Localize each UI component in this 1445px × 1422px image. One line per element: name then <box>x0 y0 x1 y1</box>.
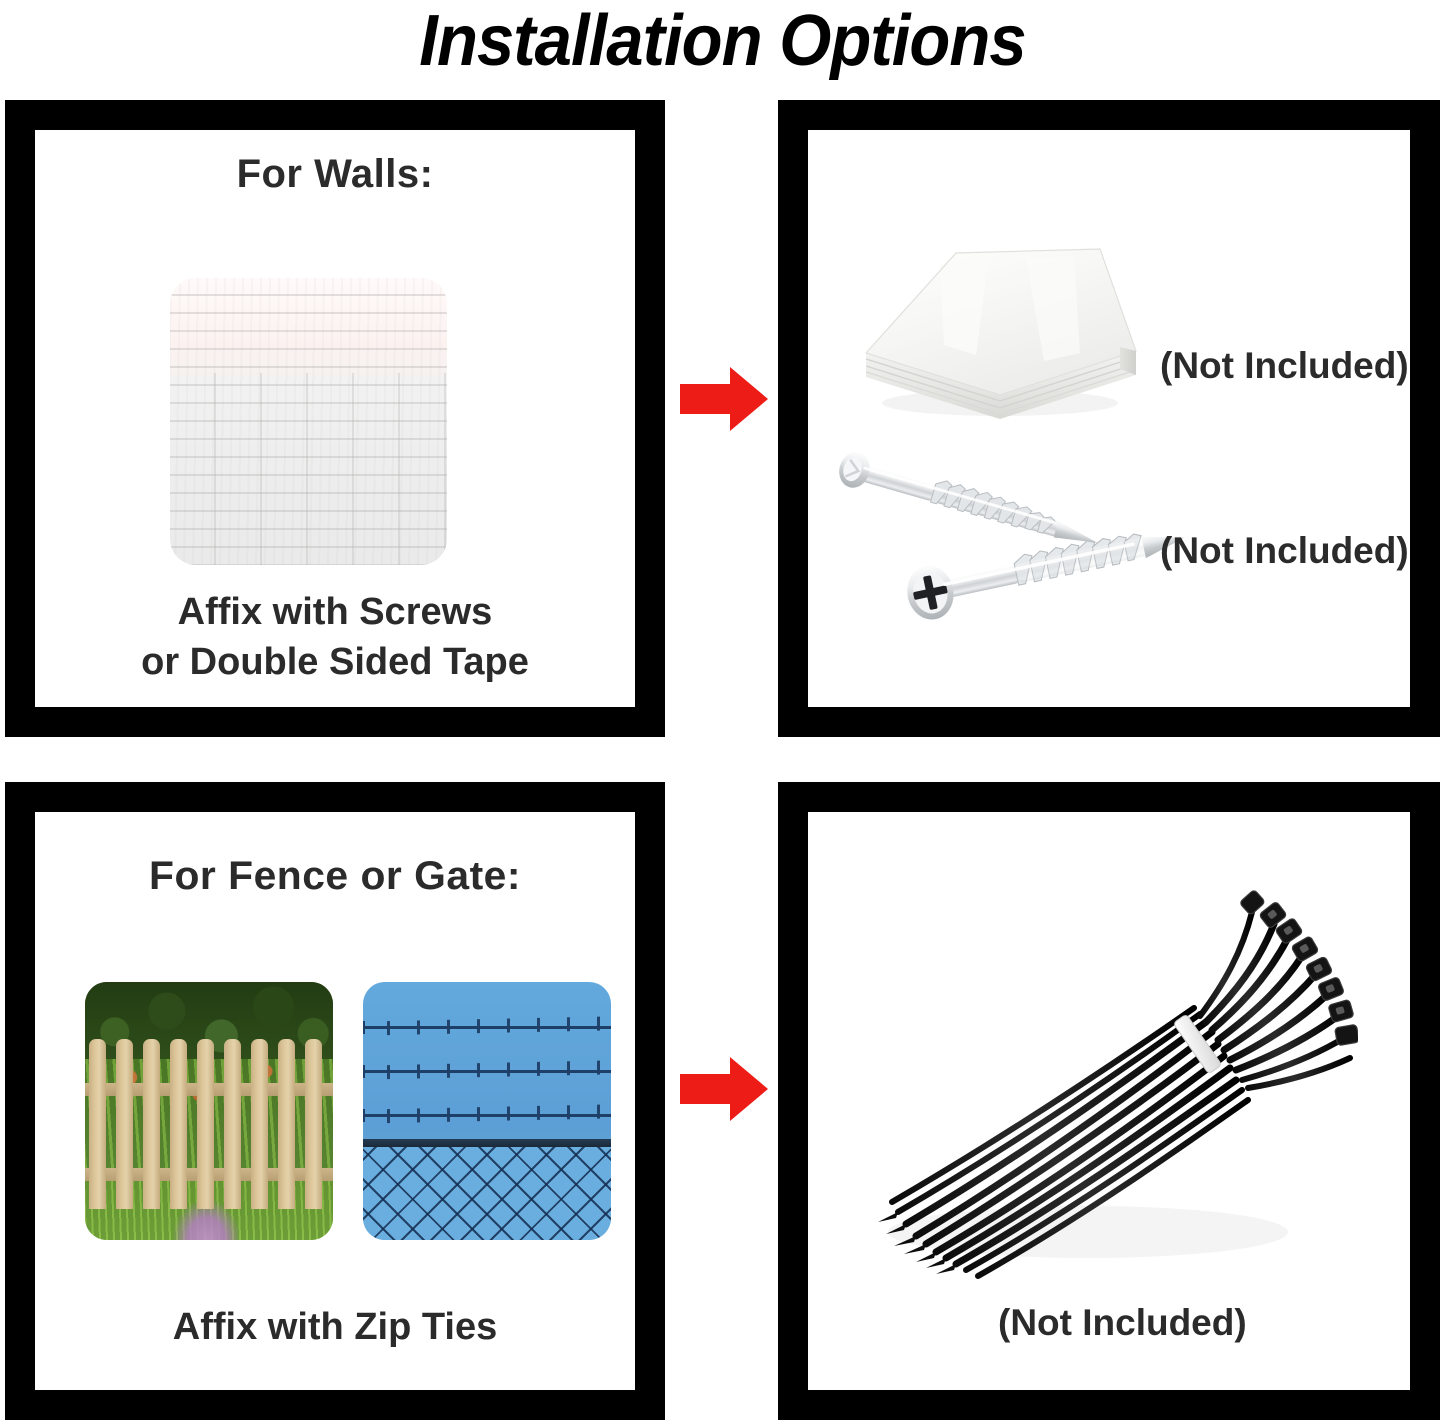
brick-surface-grain <box>170 278 447 565</box>
zipties-not-included-label: (Not Included) <box>998 1302 1247 1344</box>
panel-for-walls: For Walls: Affix with Screws or Double S… <box>5 100 665 737</box>
caption-line-1: Affix with Screws <box>35 587 635 637</box>
red-right-arrow-icon <box>678 365 770 433</box>
tape-not-included-label: (Not Included) <box>1160 345 1409 387</box>
white-brick-wall-image <box>170 278 447 565</box>
red-right-arrow-icon <box>678 1055 770 1123</box>
panel-wall-hardware: (Not Included) <box>778 100 1440 737</box>
panel-heading-fence: For Fence or Gate: <box>29 854 641 899</box>
panel-caption-walls: Affix with Screws or Double Sided Tape <box>35 587 635 687</box>
screws-not-included-label: (Not Included) <box>1160 530 1409 572</box>
wooden-picket-fence-image <box>85 982 333 1240</box>
pf-picket-group <box>85 1039 333 1209</box>
panel-fence-hardware: (Not Included) <box>778 782 1440 1420</box>
caption-line-2: or Double Sided Tape <box>35 637 635 687</box>
cl-chain-link-mesh <box>363 1147 611 1240</box>
chain-link-barbed-wire-fence-image <box>363 982 611 1240</box>
panel-caption-fence: Affix with Zip Ties <box>35 1302 635 1352</box>
panel-for-fence-or-gate: For Fence or Gate: <box>5 782 665 1420</box>
double-sided-tape-stack-image <box>848 235 1148 425</box>
panel-heading-walls: For Walls: <box>35 152 635 197</box>
page-title: Installation Options <box>51 0 1395 84</box>
wood-screws-image <box>818 450 1198 630</box>
black-zip-ties-bundle-image <box>838 872 1358 1302</box>
